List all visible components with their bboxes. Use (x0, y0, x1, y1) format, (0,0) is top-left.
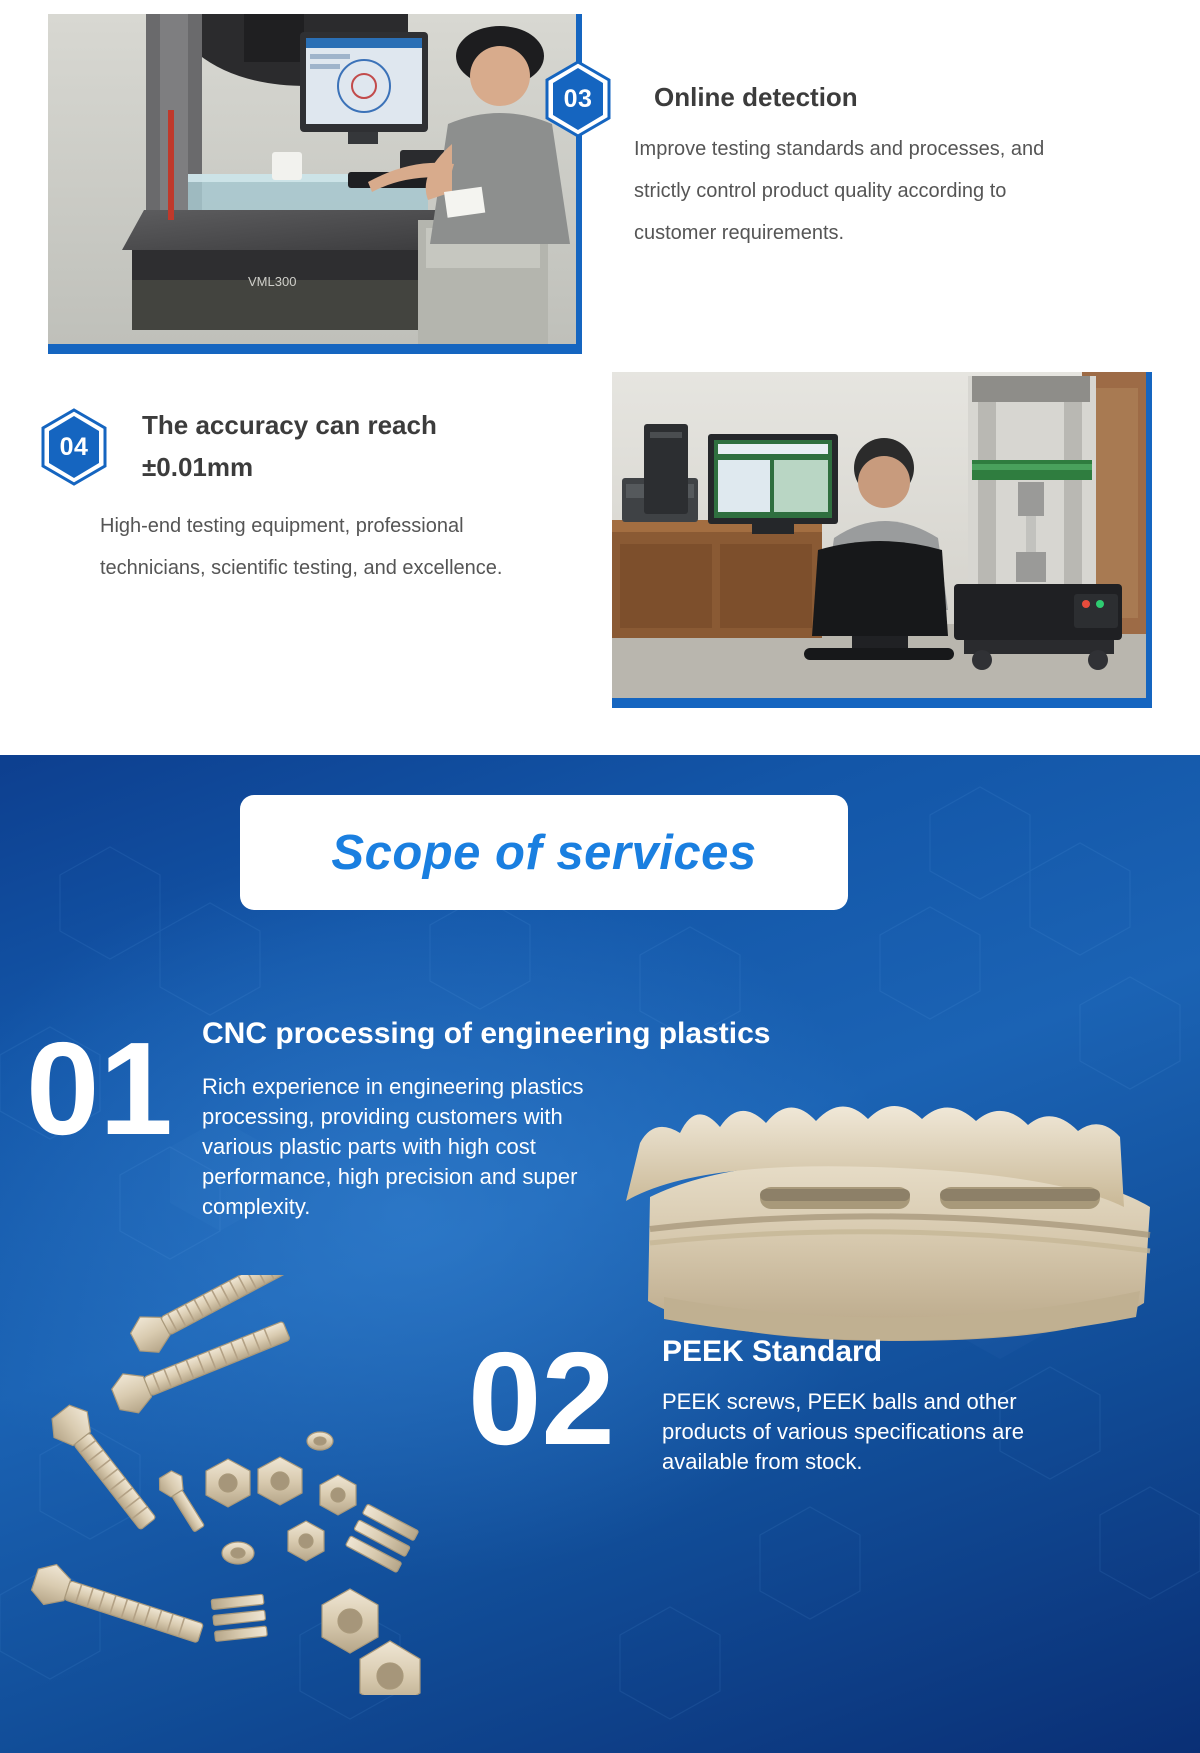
accuracy-photo-art (612, 372, 1146, 698)
scope-banner-title: Scope of services (331, 825, 756, 881)
step-number: 03 (564, 85, 593, 114)
service-number-01: 01 (26, 1023, 173, 1155)
step-number: 04 (60, 433, 89, 462)
peek-bolts-image (20, 1275, 490, 1695)
scope-banner: Scope of services (240, 795, 848, 910)
service-body-peek-standard: PEEK screws, PEEK balls and other produc… (662, 1387, 1082, 1477)
block-body-online-detection: Improve testing standards and processes,… (634, 128, 1064, 254)
svg-text:VML300: VML300 (248, 274, 296, 289)
peek-chain-part-image (610, 1047, 1190, 1347)
service-number-02: 02 (468, 1333, 615, 1465)
scope-of-services-section: Scope of services 01 CNC processing of e… (0, 755, 1200, 1753)
photo-online-detection: VML300 (48, 14, 576, 344)
online-detection-photo-art: VML300 (48, 14, 576, 344)
detection-section: VML300 (0, 0, 1200, 757)
service-title-peek-standard: PEEK Standard (662, 1335, 1082, 1369)
service-title-cnc: CNC processing of engineering plastics (202, 1017, 962, 1051)
step-badge-04: 04 (40, 408, 108, 486)
block-body-accuracy: High-end testing equipment, professional… (100, 505, 540, 589)
block-title-accuracy: The accuracy can reach ±0.01mm (142, 404, 542, 488)
photo-frame-online-detection: VML300 (48, 14, 582, 354)
block-title-online-detection: Online detection (654, 76, 1094, 118)
step-badge-03: 03 (544, 60, 612, 138)
photo-frame-accuracy (612, 372, 1152, 708)
photo-accuracy-testing (612, 372, 1146, 698)
marketing-page: VML300 (0, 0, 1200, 1753)
service-body-cnc: Rich experience in engineering plastics … (202, 1072, 634, 1222)
